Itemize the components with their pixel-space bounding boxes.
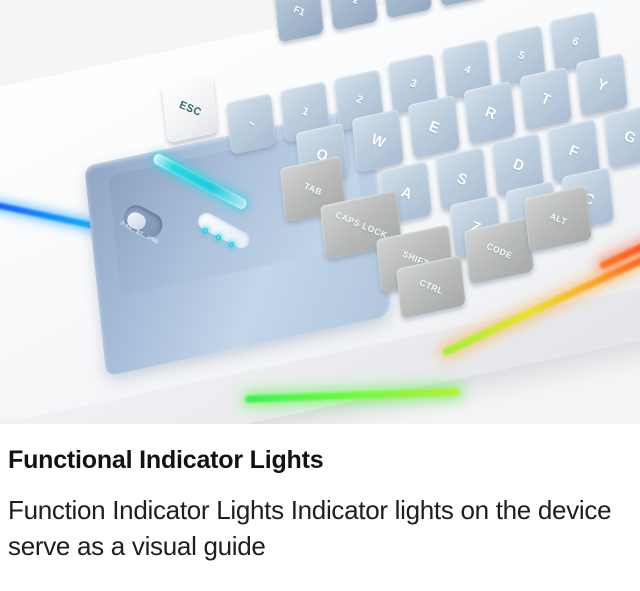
key-e[interactable]: E — [408, 95, 461, 159]
caption-block: Functional Indicator Lights Function Ind… — [0, 424, 640, 565]
key-f3[interactable]: F3 — [382, 0, 432, 19]
key-w[interactable]: W — [352, 109, 405, 173]
feature-description: Function Indicator Lights Indicator ligh… — [0, 475, 640, 565]
key-f1[interactable]: F1 — [274, 0, 324, 43]
key-f4[interactable]: F4 — [436, 0, 486, 7]
key-f2[interactable]: F2 — [328, 0, 378, 31]
product-feature-card: 2.4GBTUSB F1 F2 F3 F4 F5 — [0, 0, 640, 591]
key-g[interactable]: G — [604, 105, 640, 169]
key-r[interactable]: R — [464, 81, 517, 145]
product-photo: 2.4GBTUSB F1 F2 F3 F4 F5 — [0, 0, 640, 424]
key-t[interactable]: T — [520, 67, 573, 131]
key-y[interactable]: Y — [576, 53, 629, 117]
feature-headline: Functional Indicator Lights — [0, 424, 640, 475]
key-tilde[interactable]: ~ — [226, 93, 276, 155]
keycap-group: F1 F2 F3 F4 F5 F6 ~ — [0, 0, 640, 424]
key-esc[interactable]: ESC — [162, 75, 219, 144]
key-alt[interactable]: ALT — [524, 185, 592, 252]
